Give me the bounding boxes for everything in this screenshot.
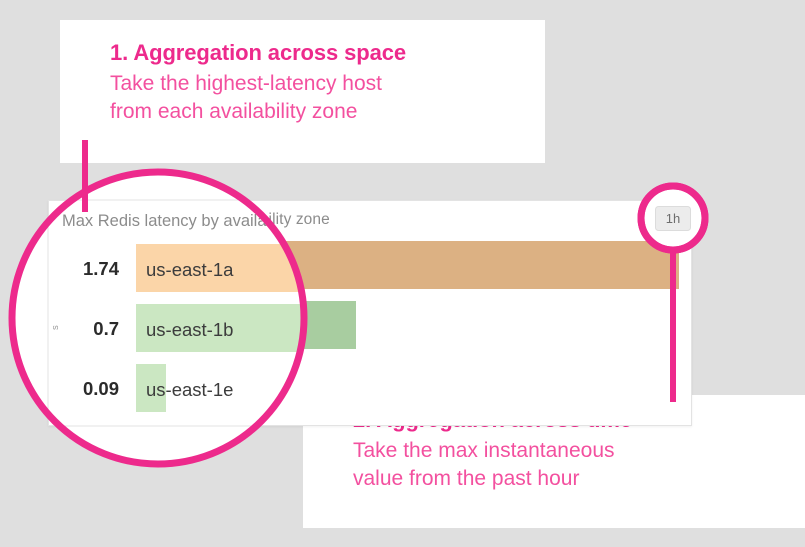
callout-body-line-2: from each availability zone <box>110 98 519 126</box>
callout-aggregation-across-space: 1. Aggregation across space Take the hig… <box>60 20 545 163</box>
bar-row[interactable]: 1.74 us-east-1a <box>49 241 693 289</box>
bar-chart: s 1.74 us-east-1a 0.7 us-east-1b 0.09 us… <box>49 241 693 426</box>
bar-value: 0.7 <box>49 301 127 349</box>
bar-category-label: us-east-1e <box>147 361 227 409</box>
bar-category-label: us-east-1a <box>147 241 227 289</box>
callout-body-line-2: value from the past hour <box>353 465 779 493</box>
bar-row[interactable]: 0.09 us-east-1e <box>49 361 693 409</box>
callout-body-line-1: Take the max instantaneous <box>353 437 779 465</box>
callout-body-line-1: Take the highest-latency host <box>110 70 519 98</box>
bar-row[interactable]: 0.7 us-east-1b <box>49 301 693 349</box>
chart-panel: Max Redis latency by availability zone 1… <box>48 200 692 426</box>
bar-value: 1.74 <box>49 241 127 289</box>
screenshot-stage: Max Redis latency by availability zone 1… <box>0 0 805 547</box>
callout-heading: 1. Aggregation across space <box>110 40 519 66</box>
bar-value: 0.09 <box>49 361 127 409</box>
panel-title: Max Redis latency by availability zone <box>65 211 330 229</box>
time-range-badge[interactable]: 1h <box>657 209 687 231</box>
bar-category-label: us-east-1b <box>147 301 227 349</box>
